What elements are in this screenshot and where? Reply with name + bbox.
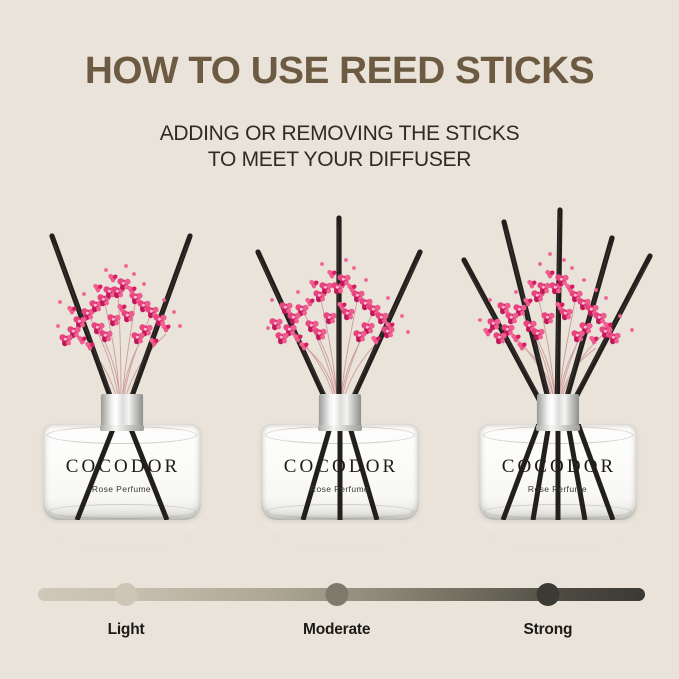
slider-knob-light[interactable]	[115, 583, 138, 606]
flower-arrangement-light	[14, 196, 229, 418]
variant-name: Rose Perfume	[479, 484, 637, 494]
bottle-reflection	[483, 520, 633, 548]
intensity-slider[interactable]	[38, 583, 645, 603]
bottle-reflection	[265, 520, 415, 548]
brand-name: COCODOR	[261, 456, 419, 478]
bottle-collar	[537, 394, 579, 428]
variant-name: Rose Perfume	[43, 484, 201, 494]
subtitle-line-1: ADDING OR REMOVING THE STICKS	[160, 122, 520, 145]
bottle-label: COCODOR Rose Perfume	[43, 456, 201, 494]
slider-knob-moderate[interactable]	[325, 583, 348, 606]
bottle-label: COCODOR Rose Perfume	[479, 456, 637, 494]
bottle-label: COCODOR Rose Perfume	[261, 456, 419, 494]
diffuser-bottle-light: COCODOR Rose Perfume	[43, 394, 201, 524]
flower-arrangement-moderate	[232, 196, 447, 418]
diffuser-bottle-moderate: COCODOR Rose Perfume	[261, 394, 419, 524]
brand-name: COCODOR	[479, 456, 637, 478]
scale-label-light: Light	[108, 621, 145, 639]
product-row: COCODOR Rose Perfume	[0, 196, 679, 566]
flower-arrangement-strong	[450, 196, 665, 418]
slider-knob-strong[interactable]	[536, 583, 559, 606]
diffuser-bottle-strong: COCODOR Rose Perfume	[479, 394, 637, 524]
product-strong: COCODOR Rose Perfume	[450, 196, 665, 566]
bottle-glass: COCODOR Rose Perfume	[43, 424, 201, 520]
product-moderate: COCODOR Rose Perfume	[232, 196, 447, 566]
scale-label-moderate: Moderate	[303, 621, 370, 639]
bottle-collar	[101, 394, 143, 428]
bottle-glass: COCODOR Rose Perfume	[479, 424, 637, 520]
bottle-reflection	[47, 520, 197, 548]
page-title: HOW TO USE REED STICKS	[0, 52, 679, 92]
bottle-collar	[319, 394, 361, 428]
scale-label-strong: Strong	[524, 621, 573, 639]
header: HOW TO USE REED STICKS ADDING OR REMOVIN…	[0, 0, 679, 172]
intensity-scale-labels: Light Moderate Strong	[38, 621, 645, 643]
bottle-glass: COCODOR Rose Perfume	[261, 424, 419, 520]
brand-name: COCODOR	[43, 456, 201, 478]
page-subtitle: ADDING OR REMOVING THE STICKS TO MEET YO…	[0, 121, 679, 172]
subtitle-line-2: TO MEET YOUR DIFFUSER	[0, 147, 679, 173]
variant-name: Rose Perfume	[261, 484, 419, 494]
product-light: COCODOR Rose Perfume	[14, 196, 229, 566]
